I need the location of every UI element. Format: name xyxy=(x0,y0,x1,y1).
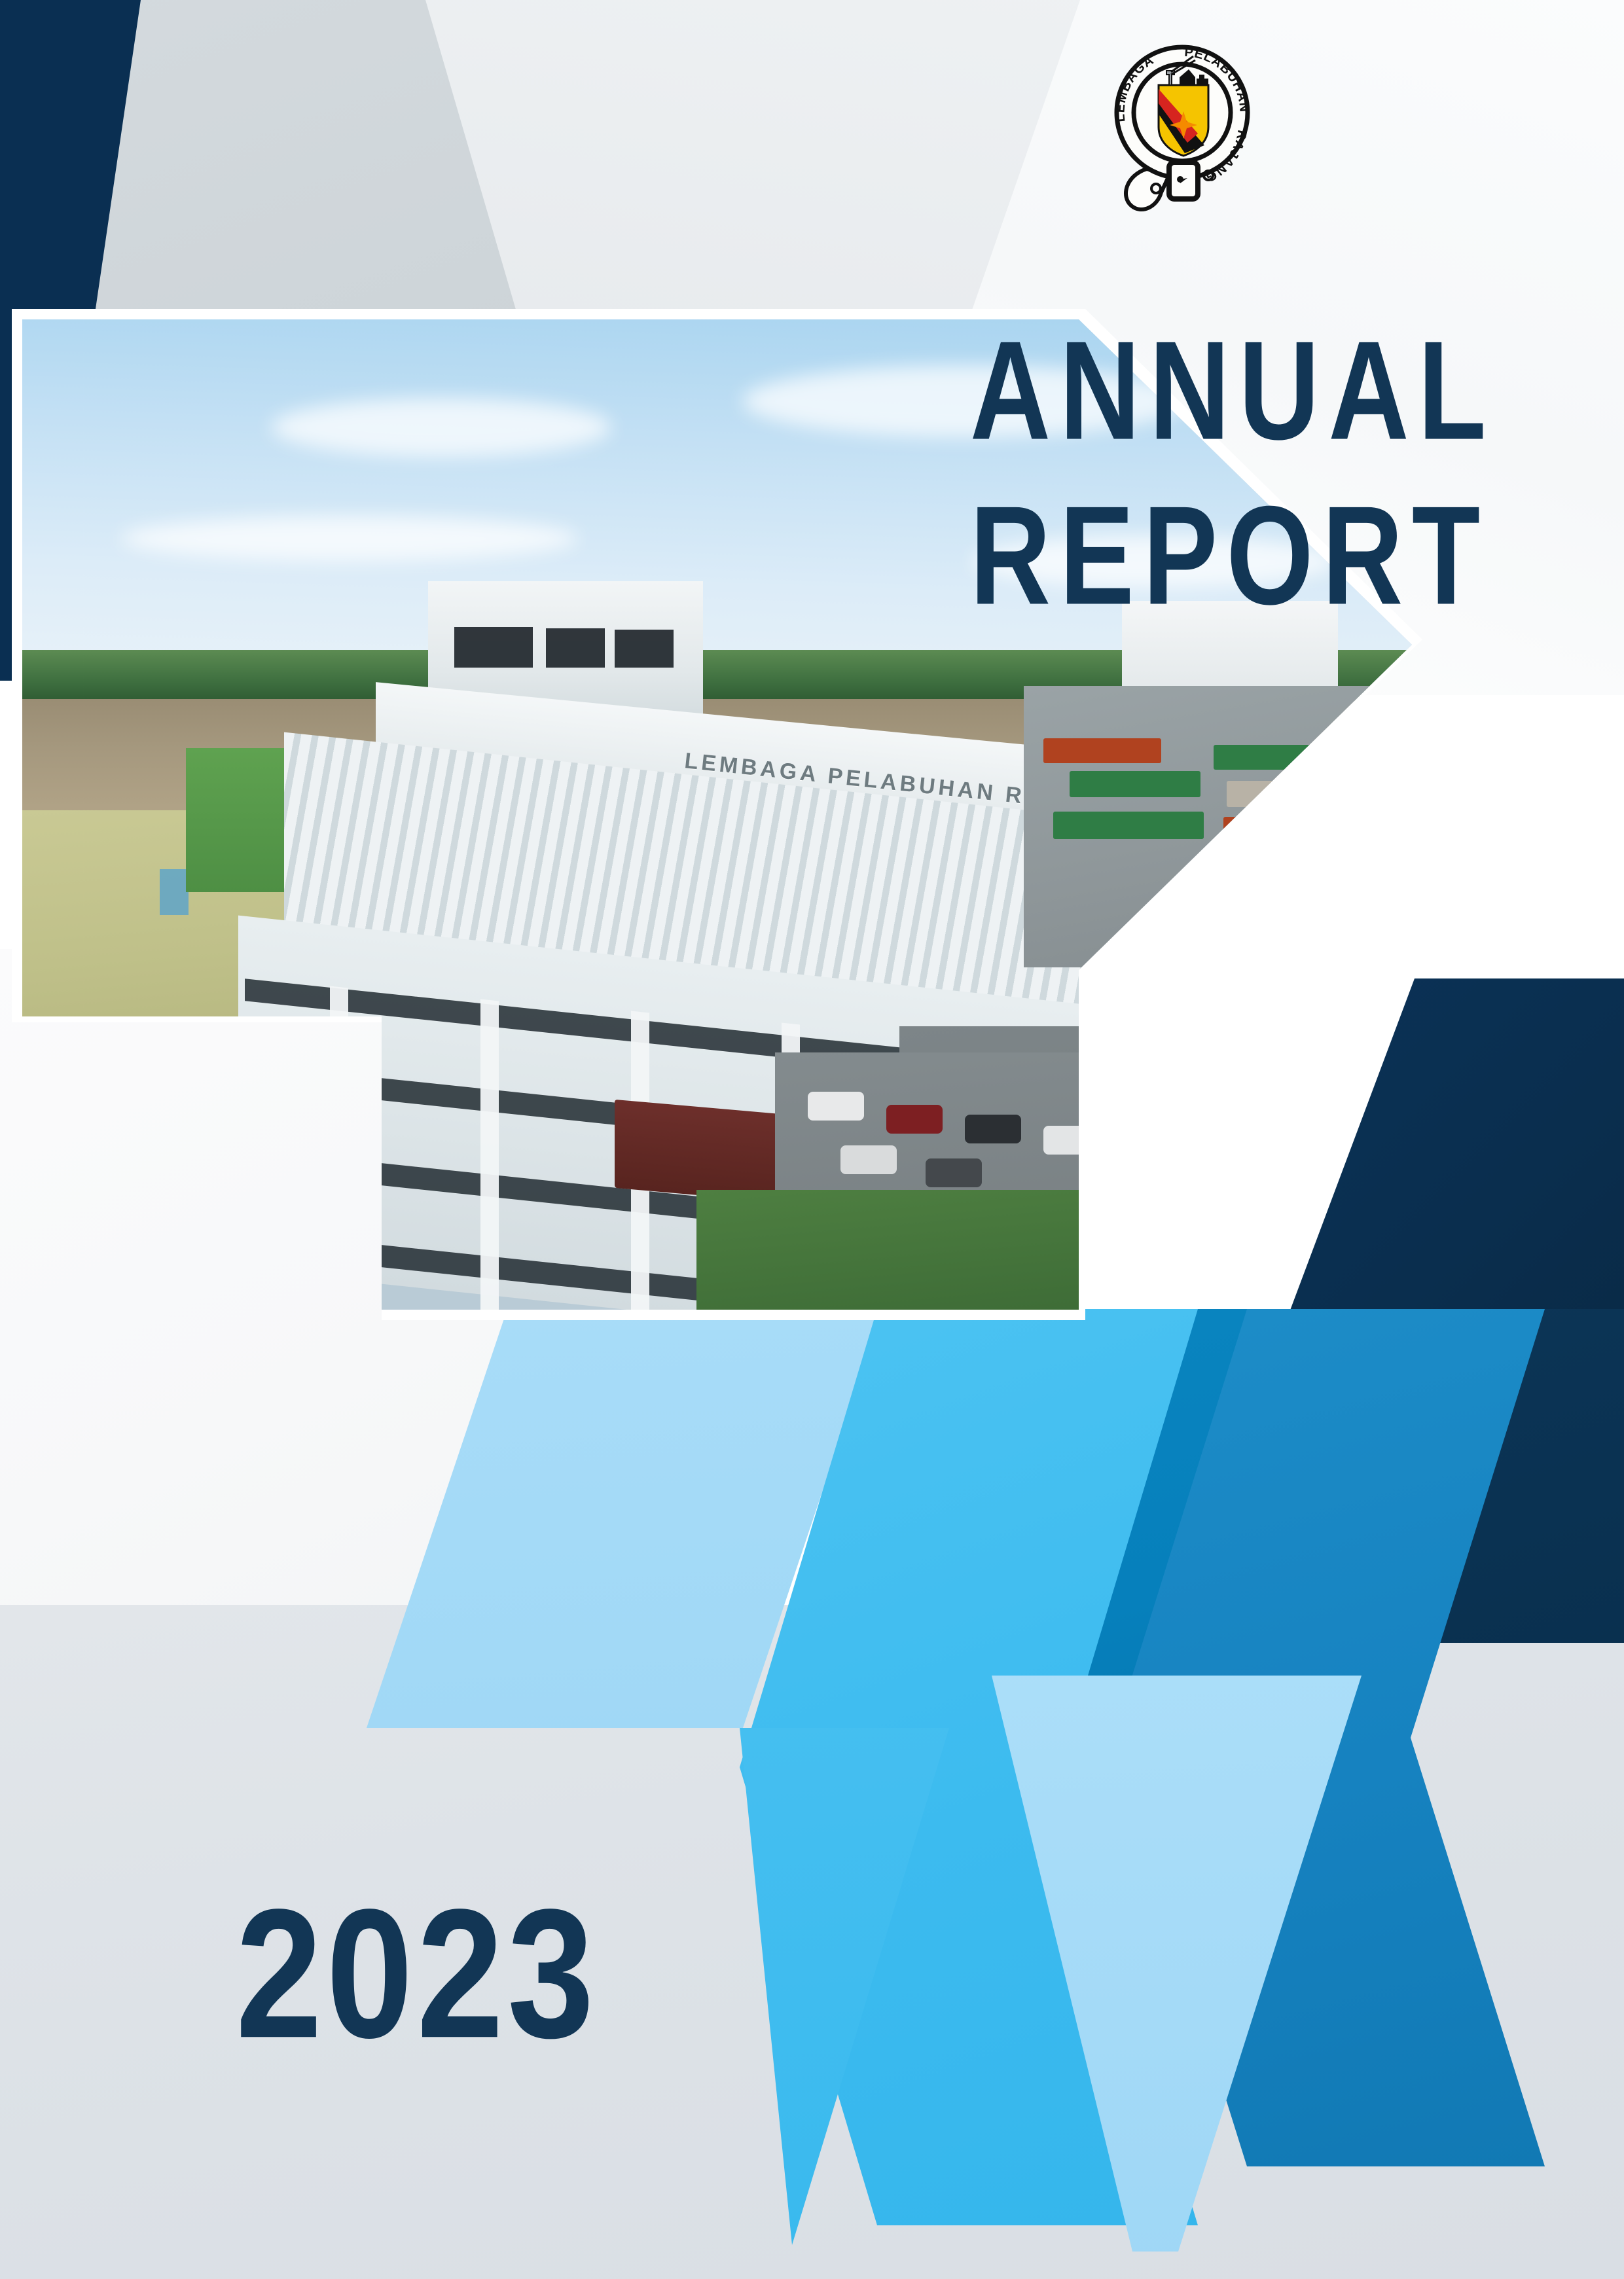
photo-tower-window xyxy=(615,630,674,668)
photo-container xyxy=(1070,771,1200,797)
photo-car xyxy=(926,1158,982,1187)
photo-cloud xyxy=(271,398,611,457)
annual-report-cover-page: LEMBAGA PELABUHAN RAJANG xyxy=(0,0,1624,2279)
photo-car xyxy=(808,1092,864,1121)
cover-title: ANNUAL REPORT xyxy=(962,321,1479,601)
photo-facade-column xyxy=(480,999,499,1310)
photo-car xyxy=(965,1115,1021,1143)
photo-cloud xyxy=(120,516,579,562)
photo-apron-marking xyxy=(160,869,189,915)
title-line-report: REPORT xyxy=(970,486,1471,626)
photo-tower-window xyxy=(454,627,533,668)
photo-container xyxy=(1053,812,1204,839)
report-year: 2023 xyxy=(236,1869,598,2079)
photo-container xyxy=(1043,738,1161,763)
title-line-annual: ANNUAL xyxy=(970,321,1471,461)
photo-car xyxy=(886,1105,943,1134)
photo-tower-window xyxy=(546,628,605,668)
photo-car xyxy=(840,1145,897,1174)
organisation-logo: LEMBAGA PELABUHAN RAJANG xyxy=(1106,41,1258,216)
